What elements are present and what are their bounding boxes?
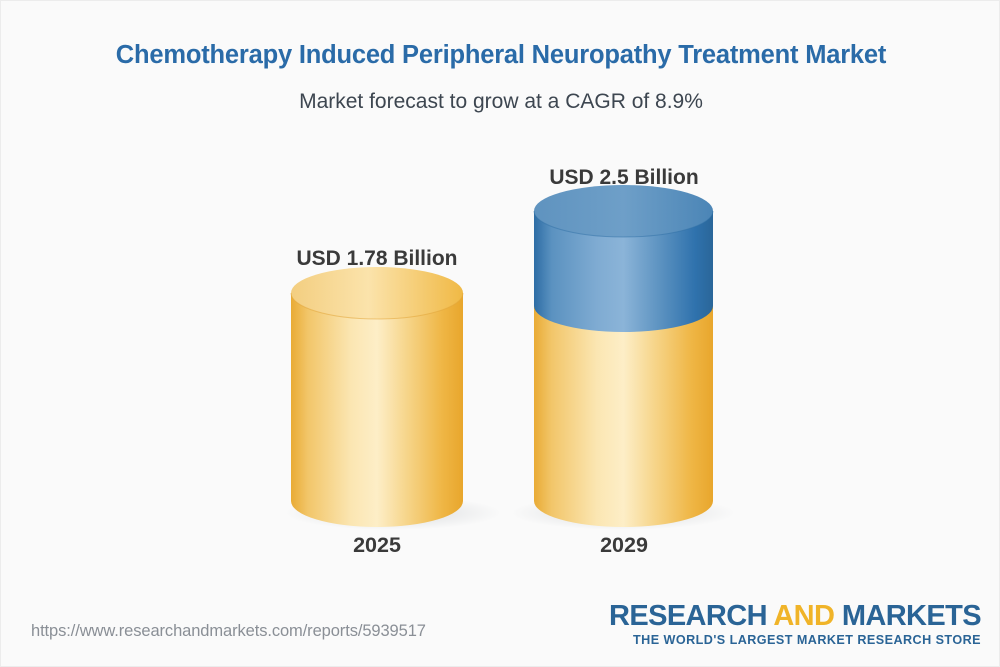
research-and-markets-logo[interactable]: RESEARCH AND MARKETS THE WORLD'S LARGEST… bbox=[609, 601, 981, 647]
bar-chart: USD 1.78 Billion USD 2.5 Billion 2025 20… bbox=[1, 1, 1000, 601]
bar-cylinder-2029 bbox=[534, 185, 713, 527]
bar-cylinder-2025 bbox=[291, 267, 463, 527]
bar-value-label-2029: USD 2.5 Billion bbox=[484, 166, 764, 190]
report-url[interactable]: https://www.researchandmarkets.com/repor… bbox=[31, 622, 426, 641]
bar-category-label-2025: 2025 bbox=[237, 533, 517, 558]
logo-wordmark: RESEARCH AND MARKETS bbox=[609, 601, 981, 631]
logo-word-research: RESEARCH bbox=[609, 600, 767, 632]
infographic-canvas: Chemotherapy Induced Peripheral Neuropat… bbox=[0, 0, 1000, 667]
bar-body-lower-2029 bbox=[534, 306, 713, 527]
logo-word-and: AND bbox=[767, 600, 842, 632]
logo-tagline: THE WORLD'S LARGEST MARKET RESEARCH STOR… bbox=[609, 633, 981, 647]
bar-category-label-2029: 2029 bbox=[484, 533, 764, 558]
cylinder-chart-svg bbox=[1, 1, 1000, 601]
logo-word-markets: MARKETS bbox=[842, 600, 981, 632]
bar-body-2025 bbox=[291, 293, 463, 527]
bar-value-label-2025: USD 1.78 Billion bbox=[237, 247, 517, 271]
